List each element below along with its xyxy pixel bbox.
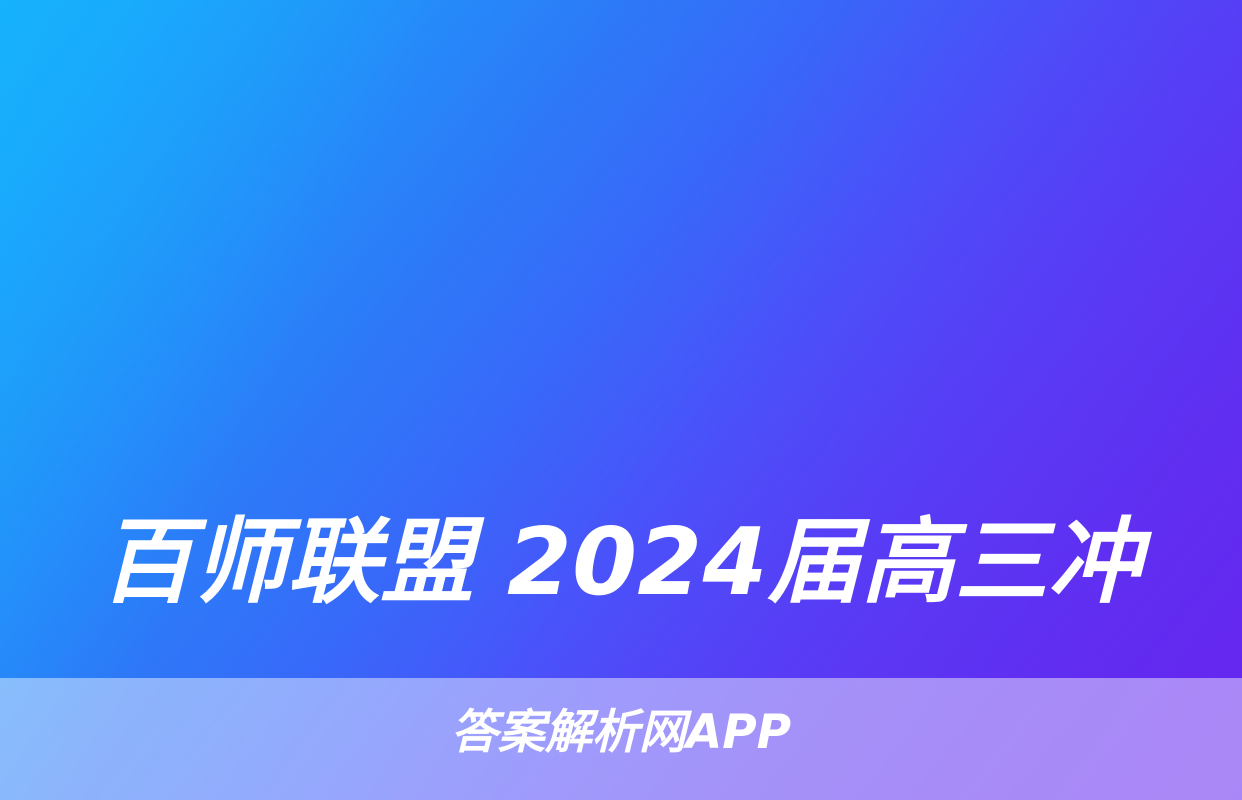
promo-banner-card: 百师联盟 2024届高三冲 刺卷(五)5 河北卷政治试 题 答案解析网APP <box>0 0 1242 800</box>
app-watermark: 答案解析网APP <box>0 707 1242 759</box>
banner-title-line-1: 百师联盟 2024届高三冲 <box>62 486 1180 638</box>
